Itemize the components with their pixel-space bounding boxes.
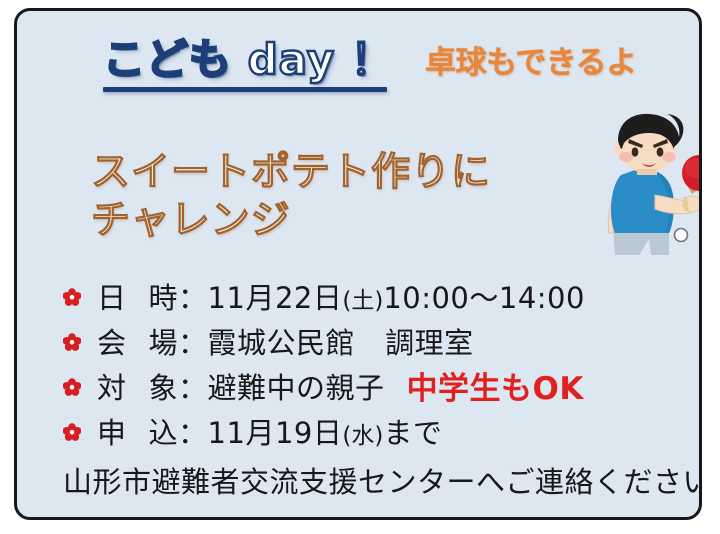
subtitle-table-tennis: 卓球もできるよ: [425, 45, 637, 81]
detail-label-audience: 対象：: [97, 365, 208, 407]
boy-playing-table-tennis-illustration: [595, 109, 702, 259]
detail-value-audience: 避難中の親子: [208, 365, 385, 407]
detail-row-audience: 対象： 避難中の親子 中学生もOK: [63, 363, 683, 408]
event-heading-line-2: チャレンジ: [91, 197, 611, 245]
event-heading: スイートポテト作りに チャレンジ: [91, 149, 611, 245]
detail-label-date: 日時：: [97, 275, 208, 317]
detail-label-application: 申込：: [97, 410, 208, 452]
event-details-list: 日時： 11月22日(土)10:00〜14:00 会場： 霞城公民館調理室: [63, 273, 683, 453]
flower-bullet-icon: [63, 378, 81, 396]
flower-bullet-icon: [63, 333, 81, 351]
title-underline: [103, 87, 387, 92]
page-title: こども day ！: [103, 35, 393, 85]
contact-footnote: 山形市避難者交流支援センターへご連絡ください。: [63, 459, 702, 501]
detail-label-venue: 会場：: [97, 320, 208, 362]
detail-badge-junior-high-ok: 中学生もOK: [407, 363, 584, 408]
flower-bullet-icon: [63, 288, 81, 306]
detail-value-application: 11月19日(水)まで: [208, 410, 443, 452]
detail-value-date: 11月22日(土)10:00〜14:00: [208, 275, 585, 317]
detail-value-venue: 霞城公民館調理室: [208, 320, 474, 362]
poster-frame: こども day ！ 卓球もできるよ スイートポテト作りに チャレンジ: [14, 8, 702, 520]
table-tennis-player-icon: [595, 109, 702, 259]
detail-row-date: 日時： 11月22日(土)10:00〜14:00: [63, 273, 683, 318]
title-block: こども day ！: [103, 35, 393, 92]
event-heading-line-1: スイートポテト作りに: [91, 149, 611, 197]
flower-bullet-icon: [63, 423, 81, 441]
detail-row-application: 申込： 11月19日(水)まで: [63, 408, 683, 453]
detail-row-venue: 会場： 霞城公民館調理室: [63, 318, 683, 363]
